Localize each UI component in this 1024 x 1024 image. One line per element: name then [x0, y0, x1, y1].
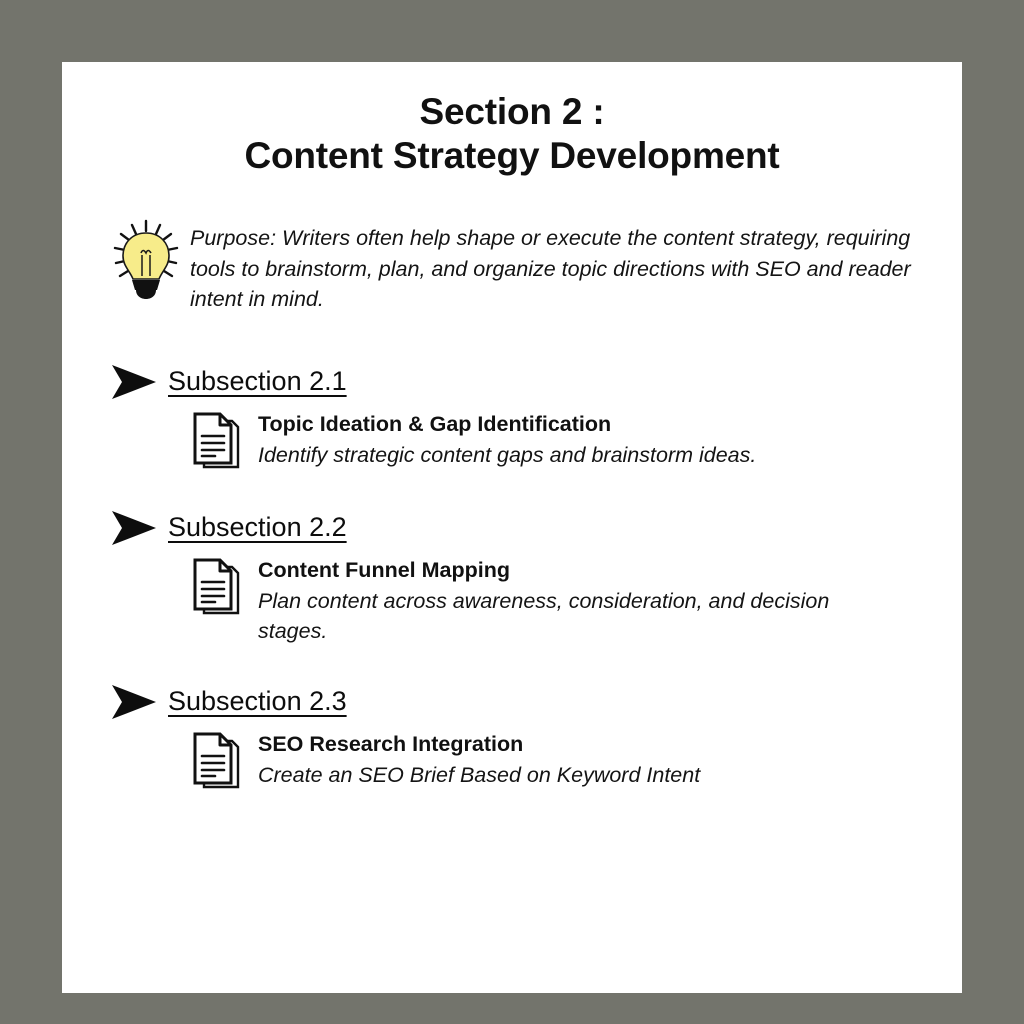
arrow-right-icon — [108, 507, 160, 549]
lightbulb-icon — [110, 219, 182, 309]
arrow-right-icon — [108, 681, 160, 723]
subsection-body: Topic Ideation & Gap Identification Iden… — [62, 409, 962, 473]
subsection-item[interactable]: Subsection 2.2 — [62, 507, 962, 647]
item-description: Plan content across awareness, considera… — [258, 586, 858, 647]
document-icon — [192, 731, 244, 793]
document-icon — [192, 557, 244, 619]
arrow-right-icon — [108, 361, 160, 403]
item-title: Content Funnel Mapping — [258, 557, 858, 584]
subsection-header[interactable]: Subsection 2.3 — [62, 681, 962, 723]
item-description: Identify strategic content gaps and brai… — [258, 440, 756, 471]
subsection-label[interactable]: Subsection 2.3 — [168, 686, 347, 717]
subsection-body: Content Funnel Mapping Plan content acro… — [62, 555, 962, 647]
subsection-label[interactable]: Subsection 2.2 — [168, 512, 347, 543]
subsection-text-block: Content Funnel Mapping Plan content acro… — [258, 555, 858, 647]
item-title: Topic Ideation & Gap Identification — [258, 411, 756, 438]
title-line-1: Section 2 : — [62, 90, 962, 134]
slide-card: Section 2 : Content Strategy Development — [62, 62, 962, 993]
page-title: Section 2 : Content Strategy Development — [62, 62, 962, 177]
document-icon — [192, 411, 244, 473]
subsection-label[interactable]: Subsection 2.1 — [168, 366, 347, 397]
subsection-text-block: SEO Research Integration Create an SEO B… — [258, 729, 700, 790]
subsection-item[interactable]: Subsection 2.1 — [62, 361, 962, 473]
subsection-header[interactable]: Subsection 2.1 — [62, 361, 962, 403]
subsection-list: Subsection 2.1 — [62, 361, 962, 793]
purpose-block: Purpose: Writers often help shape or exe… — [62, 215, 962, 315]
subsection-item[interactable]: Subsection 2.3 — [62, 681, 962, 793]
item-description: Create an SEO Brief Based on Keyword Int… — [258, 760, 700, 791]
title-line-2: Content Strategy Development — [62, 134, 962, 178]
subsection-body: SEO Research Integration Create an SEO B… — [62, 729, 962, 793]
purpose-text: Purpose: Writers often help shape or exe… — [190, 215, 918, 315]
subsection-text-block: Topic Ideation & Gap Identification Iden… — [258, 409, 756, 470]
subsection-header[interactable]: Subsection 2.2 — [62, 507, 962, 549]
item-title: SEO Research Integration — [258, 731, 700, 758]
